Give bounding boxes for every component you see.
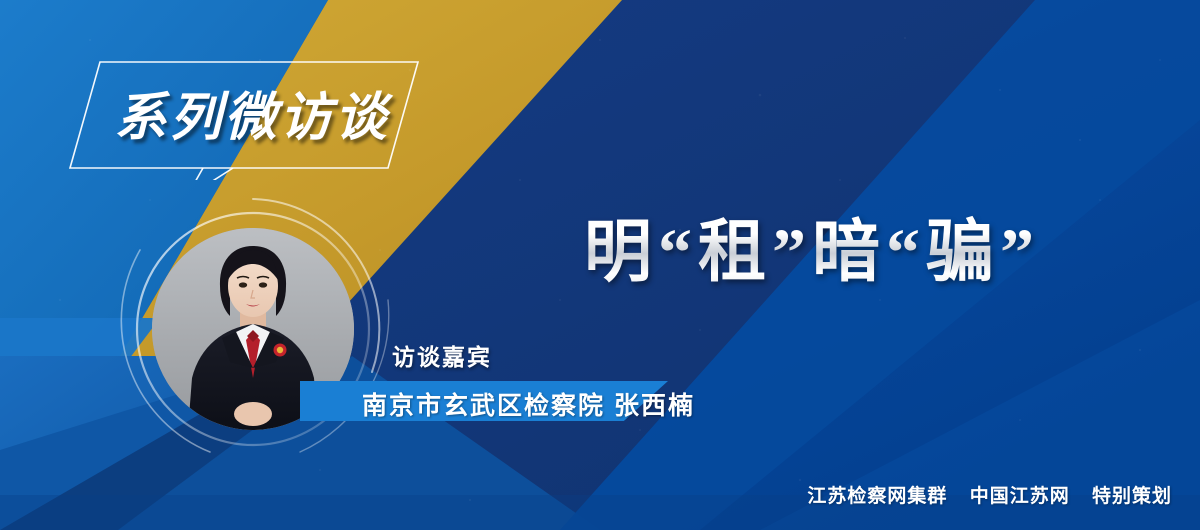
footer-credit-0: 江苏检察网集群 — [807, 486, 947, 507]
footer-credits: 江苏检察网集群 中国江苏网 特别策划 — [807, 481, 1172, 508]
interview-banner: 系列微访谈 明“租”暗“骗” — [0, 0, 1200, 530]
footer-credit-2: 特别策划 — [1092, 486, 1172, 507]
footer-credit-1: 中国江苏网 — [970, 486, 1070, 507]
series-tag-title: 系列微访谈 — [102, 64, 402, 160]
guest-name-text: 南京市玄武区检察院 张西楠 — [362, 386, 695, 422]
page-title: 明“租”暗“骗” — [584, 196, 1040, 295]
series-tag: 系列微访谈 — [58, 50, 428, 180]
guest-label: 访谈嘉宾 — [392, 338, 492, 372]
